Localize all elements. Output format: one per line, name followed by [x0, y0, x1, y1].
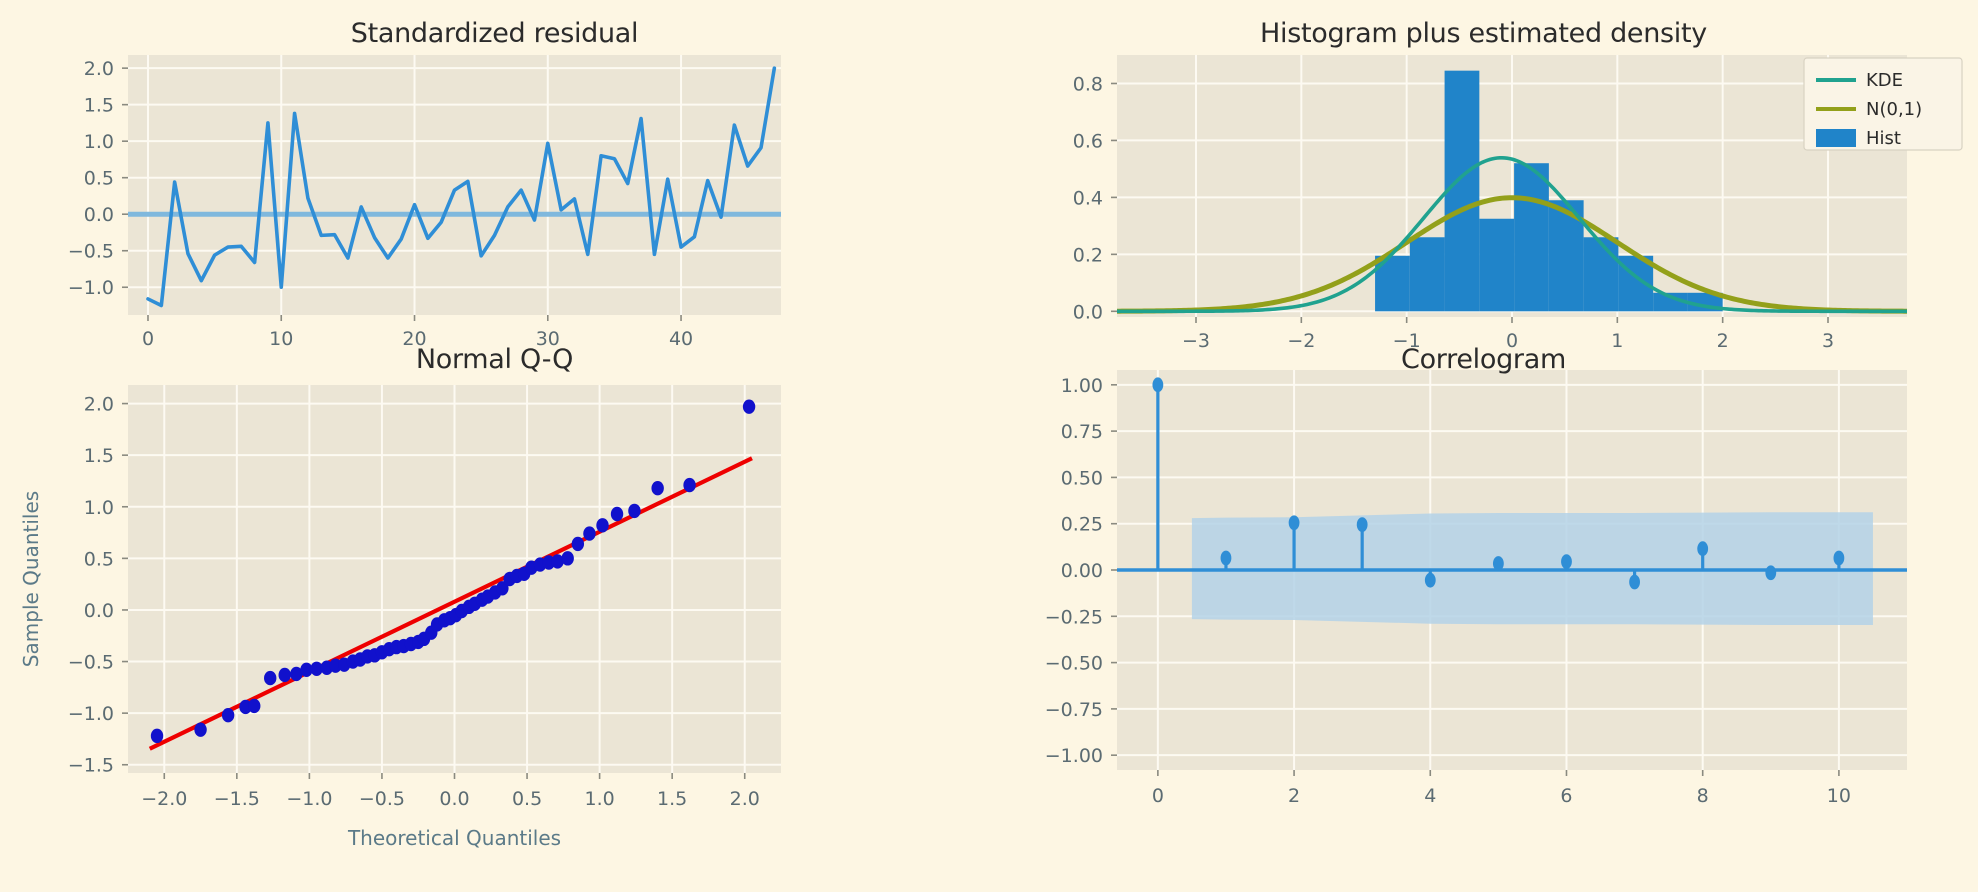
acf-marker [1697, 541, 1708, 556]
y-tick-label: −0.50 [1045, 653, 1103, 675]
y-tick-label: 1.00 [1061, 375, 1103, 397]
chart-normal-qq: −2.0−1.5−1.0−0.50.00.51.01.52.0−1.5−1.0−… [0, 340, 989, 892]
qq-point [572, 537, 584, 551]
qq-point [561, 551, 573, 565]
hist-bar [1410, 237, 1445, 311]
panel-title-standardized-residual: Standardized residual [0, 18, 989, 49]
x-tick-label: 4 [1424, 785, 1436, 807]
chart-standardized-residual: 010203040−1.0−0.50.00.51.01.52.0 [0, 0, 989, 352]
panel-histogram-density: Histogram plus estimated density −3−2−10… [989, 0, 1978, 352]
acf-marker [1221, 551, 1232, 566]
y-tick-label: −0.5 [68, 652, 114, 674]
qq-point [596, 518, 608, 532]
x-tick-label: 0 [1152, 785, 1164, 807]
y-tick-label: 2.0 [84, 394, 114, 416]
qq-point [743, 399, 755, 413]
plot-background [128, 55, 781, 315]
diagnostics-figure: Standardized residual 010203040−1.0−0.50… [0, 0, 1978, 892]
acf-marker [1289, 515, 1300, 530]
y-tick-label: 0.8 [1073, 73, 1103, 95]
qq-point [264, 671, 276, 685]
hist-bar [1584, 237, 1619, 311]
x-tick-label: 1.5 [657, 788, 687, 810]
y-tick-label: 0.00 [1061, 560, 1103, 582]
legend-label-n-0-1-: N(0,1) [1866, 99, 1922, 120]
acf-marker [1152, 377, 1163, 392]
chart-correlogram: 0246810−1.00−0.75−0.50−0.250.000.250.500… [989, 340, 1978, 892]
legend-label-hist: Hist [1866, 128, 1901, 149]
y-tick-label: −0.75 [1045, 699, 1103, 721]
chart-histogram-density: −3−2−101230.00.20.40.60.8KDEN(0,1)Hist [989, 0, 1978, 352]
y-tick-label: 0.50 [1061, 467, 1103, 489]
hist-bar [1479, 219, 1514, 312]
qq-point [222, 708, 234, 722]
qq-point [611, 507, 623, 521]
y-axis-label: Sample Quantiles [19, 491, 43, 667]
panel-title-correlogram: Correlogram [989, 344, 1978, 375]
qq-point [151, 729, 163, 743]
panel-title-normal-qq: Normal Q-Q [0, 344, 989, 375]
legend: KDEN(0,1)Hist [1804, 58, 1962, 150]
y-tick-label: 0.4 [1073, 187, 1103, 209]
x-tick-label: 0.0 [439, 788, 469, 810]
y-tick-label: 0.0 [84, 204, 114, 226]
y-tick-label: 0.5 [84, 168, 114, 190]
qq-point [628, 504, 640, 518]
qq-point [279, 668, 291, 682]
y-tick-label: −0.25 [1045, 606, 1103, 628]
panel-normal-qq: Normal Q-Q −2.0−1.5−1.0−0.50.00.51.01.52… [0, 340, 989, 892]
x-tick-label: 2.0 [730, 788, 760, 810]
qq-point [248, 699, 260, 713]
qq-point [583, 526, 595, 540]
acf-marker [1765, 565, 1776, 580]
legend-label-kde: KDE [1866, 70, 1903, 91]
y-tick-label: −1.0 [68, 703, 114, 725]
acf-marker [1357, 517, 1368, 532]
y-tick-label: 0.0 [1073, 301, 1103, 323]
x-tick-label: 2 [1288, 785, 1300, 807]
qq-point [194, 722, 206, 736]
qq-point [651, 481, 663, 495]
acf-marker [1629, 575, 1640, 590]
hist-bar [1514, 163, 1549, 311]
y-tick-label: −1.5 [68, 755, 114, 777]
acf-marker [1425, 573, 1436, 588]
acf-marker [1493, 556, 1504, 571]
x-tick-label: 1.0 [585, 788, 615, 810]
x-tick-label: −2.0 [141, 788, 187, 810]
x-tick-label: −1.0 [286, 788, 332, 810]
hist-bar [1445, 71, 1480, 312]
qq-point [683, 478, 695, 492]
y-tick-label: −1.00 [1045, 745, 1103, 767]
y-tick-label: 0.75 [1061, 421, 1103, 443]
y-tick-label: 0.6 [1073, 130, 1103, 152]
x-tick-label: −0.5 [359, 788, 405, 810]
y-tick-label: −0.5 [68, 241, 114, 263]
y-tick-label: 0.0 [84, 600, 114, 622]
acf-marker [1561, 554, 1572, 569]
x-tick-label: 6 [1560, 785, 1572, 807]
y-tick-label: 0.5 [84, 548, 114, 570]
y-tick-label: 1.0 [84, 131, 114, 153]
panel-title-histogram-density: Histogram plus estimated density [989, 18, 1978, 49]
x-tick-label: 8 [1697, 785, 1709, 807]
y-tick-label: 1.0 [84, 497, 114, 519]
y-tick-label: −1.0 [68, 277, 114, 299]
y-tick-label: 0.2 [1073, 244, 1103, 266]
x-axis-label: Theoretical Quantiles [347, 826, 561, 850]
x-tick-label: 0.5 [512, 788, 542, 810]
panel-standardized-residual: Standardized residual 010203040−1.0−0.50… [0, 0, 989, 352]
y-tick-label: 2.0 [84, 58, 114, 80]
y-tick-label: 1.5 [84, 445, 114, 467]
legend-swatch-hist [1816, 129, 1856, 147]
y-tick-label: 0.25 [1061, 514, 1103, 536]
x-tick-label: 10 [1827, 785, 1851, 807]
panel-correlogram: Correlogram 0246810−1.00−0.75−0.50−0.250… [989, 340, 1978, 892]
acf-marker [1833, 551, 1844, 566]
y-tick-label: 1.5 [84, 95, 114, 117]
x-tick-label: −1.5 [214, 788, 260, 810]
